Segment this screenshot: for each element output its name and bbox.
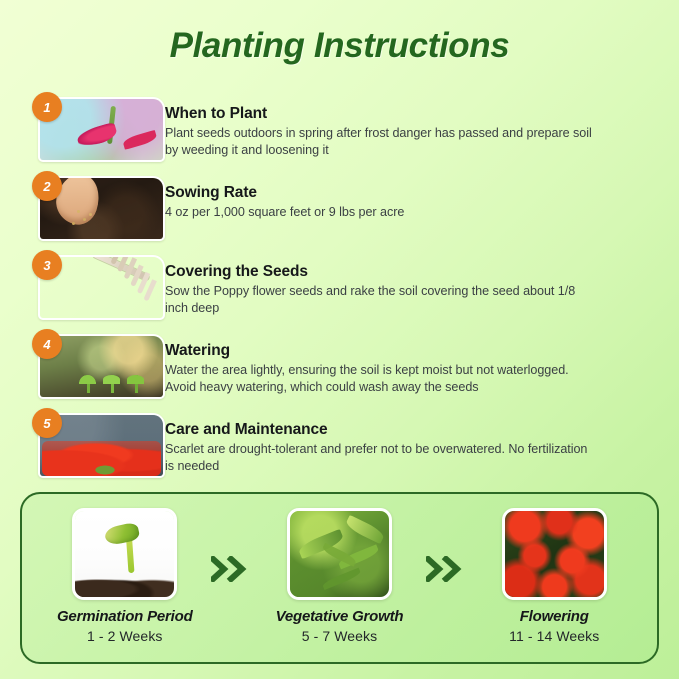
step-text: Care and Maintenance Scarlet are drought… bbox=[165, 408, 619, 474]
timeline-stage-germination: Germination Period 1 - 2 Weeks bbox=[44, 508, 206, 644]
step-title: When to Plant bbox=[165, 105, 595, 123]
timeline-stage-duration: 5 - 7 Weeks bbox=[259, 628, 421, 644]
step-item: 1 When to Plant Plant seeds outdoors in … bbox=[0, 92, 679, 171]
double-chevron-right-icon bbox=[420, 508, 473, 582]
timeline-stage-vegetative: Vegetative Growth 5 - 7 Weeks bbox=[259, 508, 421, 644]
step-number-badge: 5 bbox=[32, 408, 62, 438]
leaves-image bbox=[290, 511, 389, 597]
step-title: Sowing Rate bbox=[165, 184, 404, 202]
green-leaves-photo bbox=[287, 508, 392, 600]
step-item: 5 Care and Maintenance Scarlet are droug… bbox=[0, 408, 679, 487]
step-title: Care and Maintenance bbox=[165, 421, 595, 439]
red-flower-bed-photo bbox=[502, 508, 607, 600]
timeline-stage-flowering: Flowering 11 - 14 Weeks bbox=[473, 508, 635, 644]
double-chevron-right-icon bbox=[206, 508, 259, 582]
timeline-stage-duration: 1 - 2 Weeks bbox=[44, 628, 206, 644]
step-thumbnail-wrap: 2 bbox=[0, 171, 165, 241]
step-number-badge: 1 bbox=[32, 92, 62, 122]
step-number-badge: 4 bbox=[32, 329, 62, 359]
step-thumbnail-wrap: 1 bbox=[0, 92, 165, 162]
step-title: Watering bbox=[165, 342, 595, 360]
timeline-stage-name: Germination Period bbox=[44, 608, 206, 625]
step-description: Plant seeds outdoors in spring after fro… bbox=[165, 125, 595, 158]
sprouting-seed-photo bbox=[72, 508, 177, 600]
step-text: Sowing Rate 4 oz per 1,000 square feet o… bbox=[165, 171, 428, 221]
planting-instructions-infographic: Planting Instructions 1 When to Plant Pl… bbox=[0, 0, 679, 679]
step-description: Scarlet are drought-tolerant and prefer … bbox=[165, 441, 595, 474]
steps-list: 1 When to Plant Plant seeds outdoors in … bbox=[0, 92, 679, 487]
sprout-cotyledon bbox=[103, 521, 140, 546]
step-title: Covering the Seeds bbox=[165, 263, 595, 281]
timeline-stage-duration: 11 - 14 Weeks bbox=[473, 628, 635, 644]
step-item: 3 Covering the Seeds Sow the Poppy flowe… bbox=[0, 250, 679, 329]
growth-timeline-panel: Germination Period 1 - 2 Weeks Vegetativ… bbox=[20, 492, 659, 664]
step-description: Water the area lightly, ensuring the soi… bbox=[165, 362, 595, 395]
step-text: Watering Water the area lightly, ensurin… bbox=[165, 329, 619, 395]
step-thumbnail-wrap: 4 bbox=[0, 329, 165, 399]
step-description: 4 oz per 1,000 square feet or 9 lbs per … bbox=[165, 204, 404, 221]
timeline-stage-name: Vegetative Growth bbox=[259, 608, 421, 625]
step-thumbnail-wrap: 5 bbox=[0, 408, 165, 478]
page-title: Planting Instructions bbox=[0, 26, 679, 66]
timeline-stage-name: Flowering bbox=[473, 608, 635, 625]
red-flower-bed-image bbox=[505, 511, 604, 597]
sprout-image bbox=[75, 511, 174, 597]
step-item: 4 Watering Water the area lightly, ensur… bbox=[0, 329, 679, 408]
step-thumbnail-wrap: 3 bbox=[0, 250, 165, 320]
step-number-badge: 2 bbox=[32, 171, 62, 201]
step-item: 2 Sowing Rate 4 oz per 1,000 square feet… bbox=[0, 171, 679, 250]
timeline-row: Germination Period 1 - 2 Weeks Vegetativ… bbox=[22, 494, 657, 662]
step-number-badge: 3 bbox=[32, 250, 62, 280]
step-text: Covering the Seeds Sow the Poppy flower … bbox=[165, 250, 619, 316]
step-text: When to Plant Plant seeds outdoors in sp… bbox=[165, 92, 619, 158]
step-description: Sow the Poppy flower seeds and rake the … bbox=[165, 283, 595, 316]
